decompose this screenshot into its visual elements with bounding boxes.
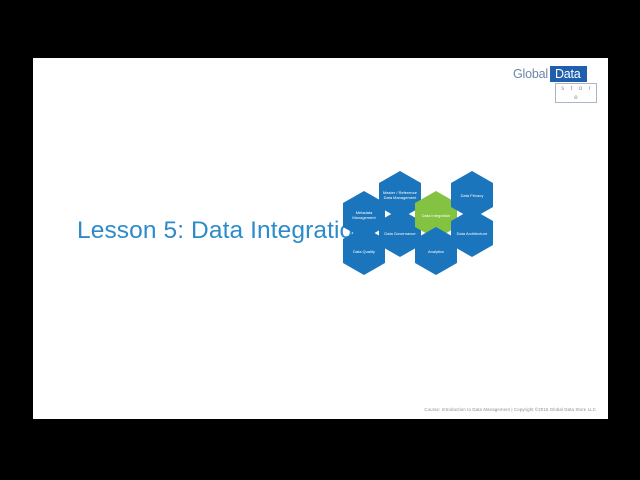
hexagon-label: Data Privacy bbox=[461, 193, 484, 198]
logo-word-store: s t o r e bbox=[555, 83, 597, 103]
hexagon-label: Metadata Management bbox=[346, 210, 382, 220]
hexagon-label: Data Quality bbox=[353, 249, 375, 254]
logo-word-global: Global bbox=[513, 66, 550, 82]
hexagon-label: Data Architecture bbox=[457, 231, 488, 236]
hexagon-quality: Data Quality bbox=[343, 227, 385, 275]
hexagon-analytics: Analytics bbox=[415, 227, 457, 275]
slide-footer-text: Course: Introduction to Data Management … bbox=[424, 406, 596, 413]
hexagon-label: Analytics bbox=[428, 249, 444, 254]
hexagon-label: Data Integration bbox=[422, 213, 451, 218]
hexagon-label: Data Governance bbox=[384, 231, 415, 236]
hexagon-architecture: Data Architecture bbox=[451, 209, 493, 257]
logo-bottom-row: s t o r e bbox=[513, 83, 597, 103]
logo-top-row: Global Data bbox=[513, 66, 597, 82]
hexagon-diagram: Metadata ManagementData QualityMaster / … bbox=[343, 166, 519, 268]
global-data-store-logo: Global Data s t o r e bbox=[513, 66, 597, 94]
hexagon-governance: Data Governance bbox=[379, 209, 421, 257]
hexagon-label: Master / Reference Data Management bbox=[382, 190, 418, 200]
video-viewport: Global Data s t o r e Lesson 5: Data Int… bbox=[0, 0, 640, 480]
presentation-slide: Global Data s t o r e Lesson 5: Data Int… bbox=[33, 58, 608, 419]
page-title: Lesson 5: Data Integration bbox=[77, 216, 367, 246]
logo-word-data: Data bbox=[550, 66, 587, 82]
